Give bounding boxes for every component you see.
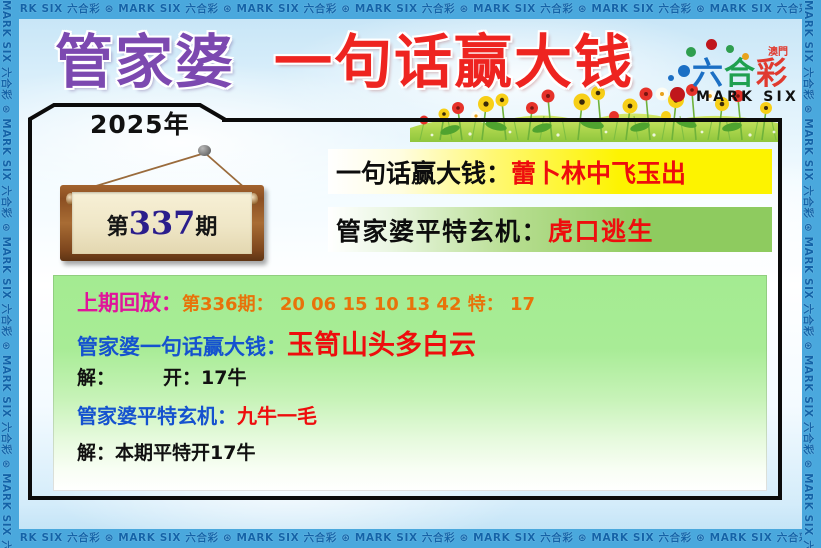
year-tab: 2025年 xyxy=(28,103,782,137)
panel-line-slogan: 管家婆一句话赢大钱：玉笥山头多白云 xyxy=(77,323,476,362)
logo-cn-text: 六合彩 xyxy=(692,57,788,91)
border-right-text: MARK SIX 六合彩 ⊛ MARK SIX 六合彩 ⊛ MARK SIX 六… xyxy=(802,0,817,548)
banner-green-value: 虎口逃生 xyxy=(548,217,654,246)
xuanji-value: 九牛一毛 xyxy=(237,404,317,428)
banner-green-text: 管家婆平特玄机：虎口逃生 xyxy=(336,212,654,248)
replay-value: 第336期： 20 06 15 10 13 42 特： 17 xyxy=(182,294,535,315)
banner-yellow-value: 蕾卜林中飞玉出 xyxy=(511,159,686,188)
title-guanjiapo: 管家婆 xyxy=(55,31,235,93)
logo-cn-2: 合 xyxy=(724,56,756,92)
slogan-value: 玉笥山头多白云 xyxy=(287,330,476,361)
border-left-text: MARK SIX 六合彩 ⊛ MARK SIX 六合彩 ⊛ MARK SIX 六… xyxy=(0,0,15,548)
panel-line-xuanji: 管家婆平特玄机：九牛一毛 xyxy=(77,400,317,429)
panel-line-replay: 上期回放：第336期： 20 06 15 10 13 42 特： 17 xyxy=(77,287,535,317)
sign-board: 第337期 xyxy=(60,185,264,261)
slogan-label: 管家婆一句话赢大钱： xyxy=(77,335,287,359)
border-left: MARK SIX 六合彩 ⊛ MARK SIX 六合彩 ⊛ MARK SIX 六… xyxy=(0,0,19,548)
border-top: MARK SIX 六合彩 ⊛ MARK SIX 六合彩 ⊛ MARK SIX 六… xyxy=(0,0,821,19)
panel-line-answer1: 解：开：17牛 xyxy=(77,363,246,390)
year-label: 2025年 xyxy=(90,105,190,141)
sign-nail xyxy=(198,145,211,156)
border-bottom: MARK SIX 六合彩 ⊛ MARK SIX 六合彩 ⊛ MARK SIX 六… xyxy=(0,529,821,548)
banner-yellow-text: 一句话赢大钱：蕾卜林中飞玉出 xyxy=(336,154,686,190)
logo-cn-3: 彩 xyxy=(756,56,788,92)
answer1-body: 开：17牛 xyxy=(163,367,246,389)
issue-text: 第337期 xyxy=(72,204,252,242)
issue-suffix: 期 xyxy=(195,214,217,240)
logo-dot-blue xyxy=(678,65,690,77)
poster-root: 管家婆 一句话赢大钱 澳門 六合彩 MARK SIX xyxy=(0,0,821,548)
border-right: MARK SIX 六合彩 ⊛ MARK SIX 六合彩 ⊛ MARK SIX 六… xyxy=(802,0,821,548)
result-panel: 上期回放：第336期： 20 06 15 10 13 42 特： 17 管家婆一… xyxy=(53,275,767,491)
banner-row-yellow: 一句话赢大钱：蕾卜林中飞玉出 xyxy=(328,149,772,194)
banner-green-label: 管家婆平特玄机： xyxy=(336,217,548,246)
logo-dot-red2 xyxy=(706,39,717,50)
main-frame: 2025年 第337期 一句话赢大钱： xyxy=(28,133,782,500)
border-top-text: MARK SIX 六合彩 ⊛ MARK SIX 六合彩 ⊛ MARK SIX 六… xyxy=(0,0,821,19)
panel-line-answer2: 解：本期平特开17牛 xyxy=(77,438,255,465)
xuanji-label: 管家婆平特玄机： xyxy=(77,404,237,428)
issue-sign: 第337期 xyxy=(38,145,288,265)
logo-dot-green2 xyxy=(726,45,734,53)
border-bottom-text: MARK SIX 六合彩 ⊛ MARK SIX 六合彩 ⊛ MARK SIX 六… xyxy=(0,529,821,548)
issue-prefix: 第 xyxy=(107,214,129,240)
replay-label: 上期回放： xyxy=(77,291,182,315)
issue-number: 337 xyxy=(129,204,196,242)
logo-dot-red xyxy=(670,87,685,102)
mark-six-logo: 澳門 六合彩 MARK SIX xyxy=(664,35,792,111)
sign-paper: 第337期 xyxy=(72,192,252,254)
answer1-prefix: 解： xyxy=(77,367,115,389)
banner-rows: 一句话赢大钱：蕾卜林中飞玉出 管家婆平特玄机：虎口逃生 xyxy=(328,149,772,264)
logo-cn-1: 六 xyxy=(692,56,724,92)
banner-yellow-label: 一句话赢大钱： xyxy=(336,159,511,188)
logo-dot-blue2 xyxy=(668,75,674,81)
banner-row-green: 管家婆平特玄机：虎口逃生 xyxy=(328,207,772,252)
title-slogan: 一句话赢大钱 xyxy=(274,31,634,93)
